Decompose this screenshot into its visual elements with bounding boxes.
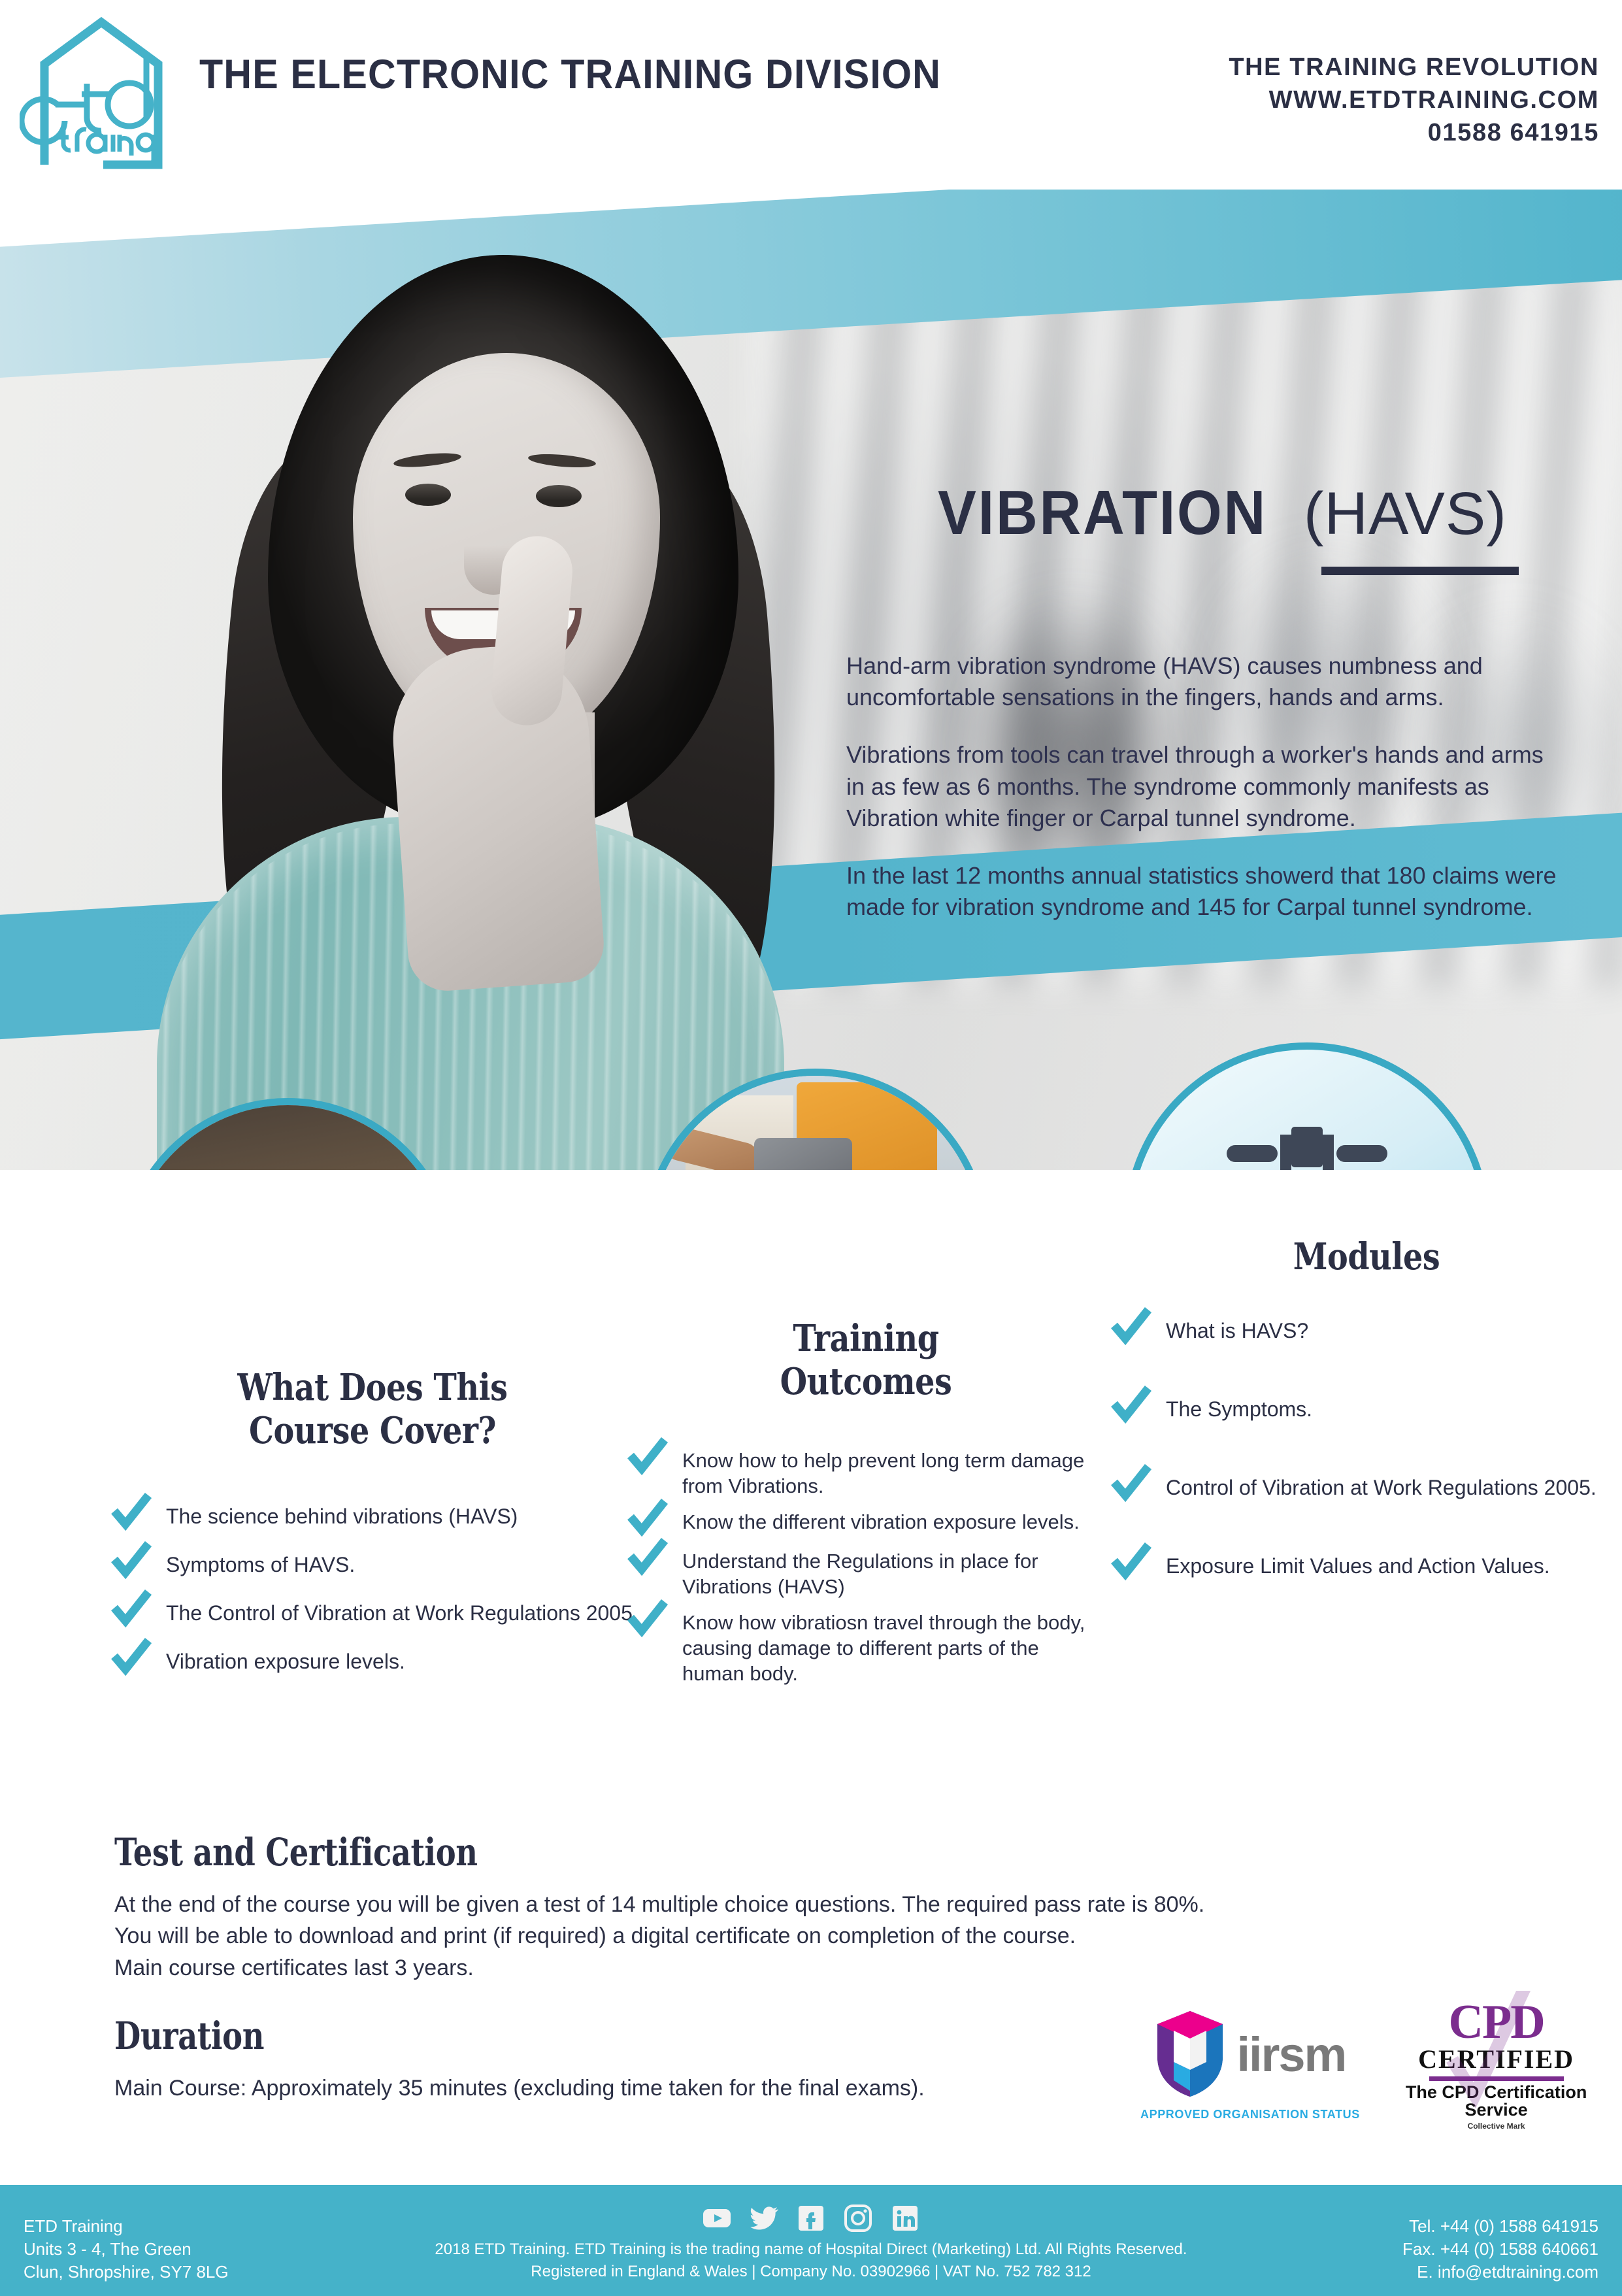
duration-heading: Duration <box>114 2014 951 2058</box>
duration-line1: Main Course: Approximately 35 minutes (e… <box>114 2072 1160 2104</box>
test-certification-line3: Main course certificates last 3 years. <box>114 1952 1160 1984</box>
hero-paragraph-2: Vibrations from tools can travel through… <box>846 739 1562 834</box>
footer-legal: 2018 ETD Training. ETD Training is the t… <box>0 2238 1622 2283</box>
instagram-icon[interactable] <box>843 2203 873 2233</box>
course-cover-heading-line2: Course Cover? <box>150 1409 595 1452</box>
footer-contact: Tel. +44 (0) 1588 641915 Fax. +44 (0) 15… <box>1402 2215 1598 2283</box>
header-tagline: THE TRAINING REVOLUTION <box>1229 51 1599 84</box>
footer-fax: Fax. +44 (0) 1588 640661 <box>1402 2238 1598 2261</box>
youtube-icon[interactable] <box>702 2203 732 2233</box>
cpd-divider <box>1429 2076 1564 2081</box>
section-training-outcomes: Training Outcomes Know how to help preve… <box>627 1317 1104 1691</box>
footer-legal-line2: Registered in England & Wales | Company … <box>0 2261 1622 2283</box>
iirsm-shield-icon <box>1154 2010 1226 2101</box>
hero-title-sub: (HAVS) <box>1304 480 1507 548</box>
list-item-label: The Symptoms. <box>1166 1391 1312 1422</box>
cpd-service-line1: The CPD Certification <box>1406 2084 1587 2101</box>
twitter-icon[interactable] <box>749 2203 779 2233</box>
footer-center: 2018 ETD Training. ETD Training is the t… <box>0 2203 1622 2283</box>
hero-title-main: VIBRATION <box>938 477 1267 549</box>
header-phone[interactable]: 01588 641915 <box>1229 116 1599 149</box>
list-item-label: What is HAVS? <box>1166 1312 1308 1344</box>
list-item-label: Understand the Regulations in place for … <box>682 1543 1104 1599</box>
footer-social-links <box>0 2203 1622 2233</box>
check-icon <box>111 1637 152 1677</box>
check-icon <box>111 1540 152 1580</box>
hero-title-underline <box>1321 567 1519 575</box>
list-item: What is HAVS? <box>1111 1312 1622 1346</box>
check-icon <box>1111 1541 1151 1582</box>
iirsm-status-text: APPROVED ORGANISATION STATUS <box>1140 2108 1360 2121</box>
cpd-wordmark: CPD <box>1449 2000 1544 2044</box>
training-outcomes-heading: Training Outcomes <box>663 1317 1069 1403</box>
duration-body: Main Course: Approximately 35 minutes (e… <box>114 2072 1160 2104</box>
test-certification-line1: At the end of the course you will be giv… <box>114 1889 1160 1920</box>
list-item-label: The science behind vibrations (HAVS) <box>166 1498 518 1529</box>
check-icon <box>627 1497 668 1538</box>
list-item: The Symptoms. <box>1111 1391 1622 1425</box>
test-certification-heading: Test and Certification <box>114 1830 951 1874</box>
check-icon <box>1111 1306 1151 1346</box>
check-icon <box>1111 1384 1151 1425</box>
list-item-label: Symptoms of HAVS. <box>166 1546 355 1578</box>
jackhammer-icon <box>1199 1118 1415 1170</box>
check-icon <box>627 1537 668 1577</box>
list-item-label: Vibration exposure levels. <box>166 1643 405 1674</box>
list-item-label: Know how to help prevent long term damag… <box>682 1442 1104 1499</box>
modules-list: What is HAVS? The Symptoms. Control of V… <box>1111 1312 1622 1582</box>
page-title: THE ELECTRONIC TRAINING DIVISION <box>199 51 941 98</box>
modules-heading: Modules <box>1150 1235 1584 1278</box>
section-course-cover: What Does This Course Cover? The science… <box>111 1366 634 1691</box>
list-item: Understand the Regulations in place for … <box>627 1543 1104 1599</box>
sander-background <box>127 1105 449 1170</box>
training-outcomes-heading-line2: Outcomes <box>663 1360 1069 1403</box>
test-certification-body: At the end of the course you will be giv… <box>114 1889 1160 1984</box>
rammer-machine <box>754 1138 852 1170</box>
eye-right <box>536 485 582 507</box>
test-certification-line2: You will be able to download and print (… <box>114 1920 1160 1952</box>
list-item: Know how vibratiosn travel through the b… <box>627 1605 1104 1686</box>
check-icon <box>627 1598 668 1639</box>
section-modules: Modules What is HAVS? The Symptoms. Cont… <box>1111 1235 1622 1626</box>
photo-circle-rammer <box>642 1069 989 1170</box>
hero-section: VIBRATION(HAVS) Hand-arm vibration syndr… <box>0 190 1622 1170</box>
check-icon <box>627 1436 668 1476</box>
course-cover-heading: What Does This Course Cover? <box>150 1366 595 1452</box>
list-item: Vibration exposure levels. <box>111 1643 634 1677</box>
list-item: Know the different vibration exposure le… <box>627 1504 1104 1538</box>
iirsm-badge: iirsm APPROVED ORGANISATION STATUS <box>1140 2010 1360 2121</box>
list-item-label: Exposure Limit Values and Action Values. <box>1166 1548 1550 1579</box>
section-test-and-duration: Test and Certification At the end of the… <box>114 1830 1160 2134</box>
hero-title: VIBRATION(HAVS) <box>938 477 1507 549</box>
list-item: Symptoms of HAVS. <box>111 1546 634 1580</box>
list-item: Exposure Limit Values and Action Values. <box>1111 1548 1622 1582</box>
header-website[interactable]: WWW.ETDTRAINING.COM <box>1229 84 1599 116</box>
header-contact-block: THE TRAINING REVOLUTION WWW.ETDTRAINING.… <box>1229 51 1599 149</box>
photo-circle-sander <box>120 1098 456 1170</box>
training-outcomes-heading-line1: Training <box>663 1317 1069 1360</box>
check-icon <box>111 1588 152 1629</box>
linkedin-icon[interactable] <box>890 2203 920 2233</box>
cpd-collective-mark-text: Collective Mark <box>1468 2121 1525 2131</box>
hero-paragraph-3: In the last 12 months annual statistics … <box>846 860 1562 923</box>
cpd-badge: CPD CERTIFIED The CPD Certification Serv… <box>1406 2000 1587 2130</box>
check-icon <box>1111 1463 1151 1503</box>
page-footer: ETD Training Units 3 - 4, The Green Clun… <box>0 2185 1622 2296</box>
facebook-icon[interactable] <box>796 2203 826 2233</box>
woman-thumbs-up-photo <box>78 255 784 1170</box>
hero-description: Hand-arm vibration syndrome (HAVS) cause… <box>846 650 1562 923</box>
cpd-service-text: The CPD Certification Service <box>1406 2084 1587 2119</box>
poster-page: THE ELECTRONIC TRAINING DIVISION THE TRA… <box>0 0 1622 2296</box>
hero-paragraph-1: Hand-arm vibration syndrome (HAVS) cause… <box>846 650 1562 713</box>
eye-left <box>405 484 451 506</box>
iirsm-wordmark: iirsm <box>1236 2033 1346 2077</box>
list-item: Know how to help prevent long term damag… <box>627 1442 1104 1499</box>
list-item-label: The Control of Vibration at Work Regulat… <box>166 1595 633 1626</box>
list-item-label: Know the different vibration exposure le… <box>682 1504 1080 1535</box>
cpd-service-line2: Service <box>1406 2101 1587 2119</box>
course-cover-list: The science behind vibrations (HAVS) Sym… <box>111 1498 634 1677</box>
list-item-label: Control of Vibration at Work Regulations… <box>1166 1469 1597 1501</box>
page-header: THE ELECTRONIC TRAINING DIVISION THE TRA… <box>0 0 1622 190</box>
training-outcomes-list: Know how to help prevent long term damag… <box>627 1442 1104 1686</box>
list-item-label: Know how vibratiosn travel through the b… <box>682 1605 1104 1686</box>
footer-tel[interactable]: Tel. +44 (0) 1588 641915 <box>1402 2215 1598 2238</box>
course-cover-heading-line1: What Does This <box>150 1366 595 1409</box>
footer-email[interactable]: E. info@etdtraining.com <box>1402 2261 1598 2284</box>
list-item: The science behind vibrations (HAVS) <box>111 1498 634 1532</box>
check-icon <box>111 1491 152 1532</box>
cpd-certified-text: CERTIFIED <box>1418 2046 1574 2072</box>
list-item: Control of Vibration at Work Regulations… <box>1111 1469 1622 1503</box>
list-item: The Control of Vibration at Work Regulat… <box>111 1595 634 1629</box>
etd-training-logo[interactable] <box>20 13 183 176</box>
accreditation-badges: iirsm APPROVED ORGANISATION STATUS CPD C… <box>1140 1990 1611 2140</box>
footer-legal-line1: 2018 ETD Training. ETD Training is the t… <box>0 2238 1622 2261</box>
